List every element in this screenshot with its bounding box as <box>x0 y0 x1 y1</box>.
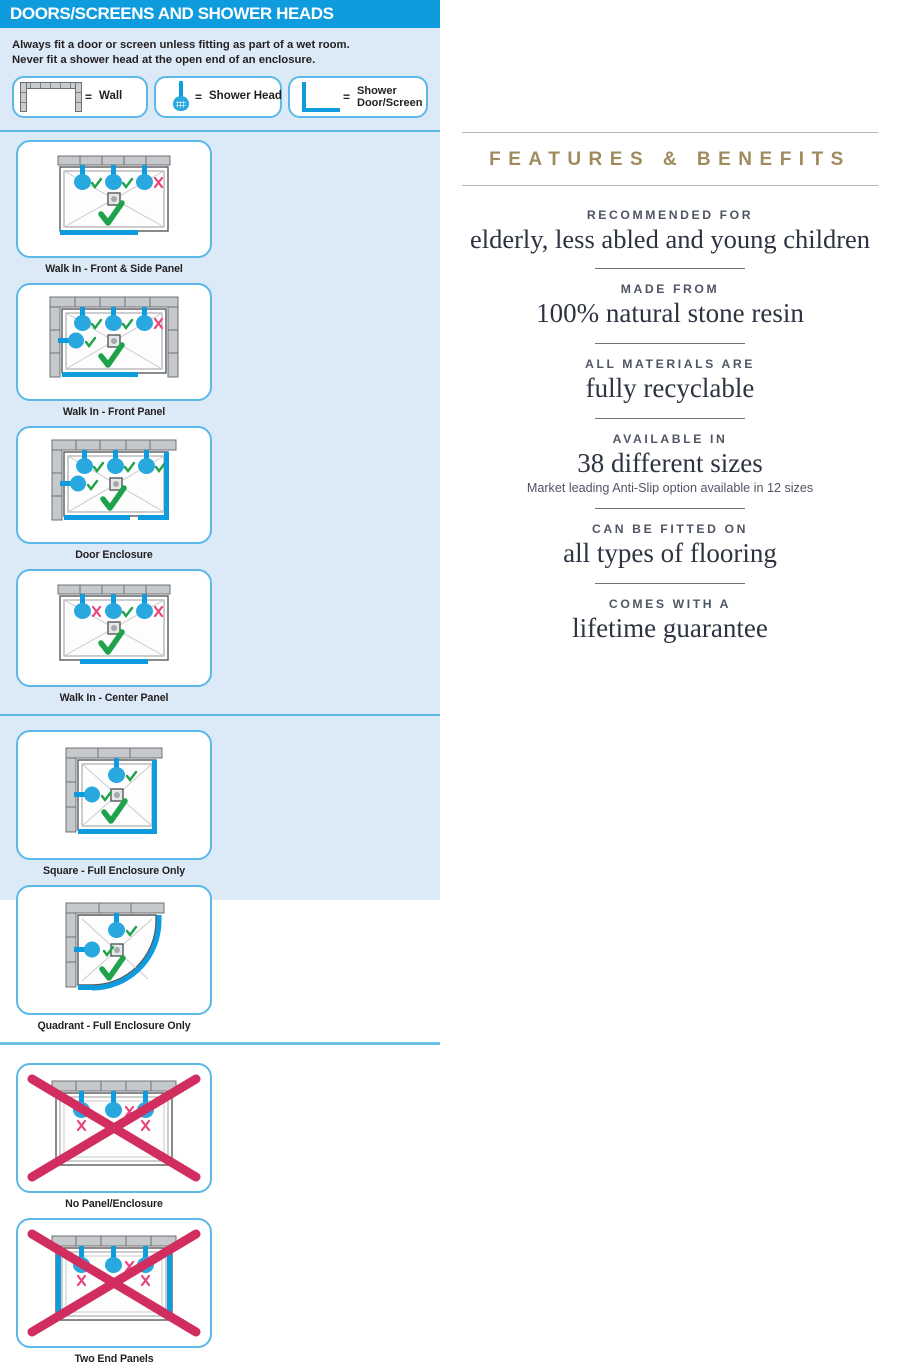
feature-label: RECOMMENDED FOR <box>462 208 878 222</box>
diagram-grid-top: Walk In - Front & Side Panel <box>0 132 440 704</box>
wall-top <box>52 440 176 450</box>
wall-top <box>66 748 162 758</box>
legend-equals-wall: = <box>85 90 92 104</box>
diagram-no-panel-enclosure <box>16 1063 212 1193</box>
feature-item-recommended-for: RECOMMENDED FOR elderly, less abled and … <box>462 208 878 255</box>
diagram-square-full-enclosure-only <box>16 730 212 860</box>
shower-door-bar-bottom <box>78 829 157 834</box>
diagram-walk-in-center-panel <box>16 569 212 687</box>
intro-line-2: Never fit a shower head at the open end … <box>12 53 428 68</box>
legend: = Wall = Shower Head = Shower Door/Scree… <box>0 72 440 118</box>
feature-value: lifetime guarantee <box>462 613 878 645</box>
shower-door-bar <box>62 372 138 377</box>
wall-top <box>58 585 170 594</box>
shower-door-bar <box>80 659 148 664</box>
feature-label: COMES WITH A <box>462 597 878 611</box>
doors-screens-panel: DOORS/SCREENS AND SHOWER HEADS Always fi… <box>0 0 440 900</box>
feature-separator <box>595 343 745 344</box>
panel-header: DOORS/SCREENS AND SHOWER HEADS <box>0 0 440 28</box>
feature-label: ALL MATERIALS ARE <box>462 357 878 371</box>
diagram-cell: Square - Full Enclosure Only <box>8 730 220 877</box>
diagram-caption: Walk In - Front & Side Panel <box>45 263 183 275</box>
diagram-caption: Door Enclosure <box>75 549 152 561</box>
legend-label-shower-door: Shower Door/Screen <box>357 85 422 109</box>
feature-item-comes-with-a: COMES WITH A lifetime guarantee <box>462 597 878 645</box>
shower-head-group <box>74 594 153 619</box>
shower-door-bar-right <box>164 452 169 516</box>
diagram-caption: Walk In - Center Panel <box>60 692 169 704</box>
feature-value: 100% natural stone resin <box>462 298 878 330</box>
diagram-caption: Two End Panels <box>74 1353 153 1365</box>
diagram-cell: Quadrant - Full Enclosure Only <box>8 885 220 1032</box>
diagram-door-enclosure <box>16 426 212 544</box>
diagram-caption: No Panel/Enclosure <box>65 1198 163 1210</box>
diagram-cell: Walk In - Front & Side Panel <box>8 140 220 275</box>
legend-label-wall: Wall <box>99 90 122 103</box>
shower-door-bar <box>60 230 138 235</box>
features-rule-bottom <box>462 185 878 186</box>
legend-item-shower-door: = Shower Door/Screen <box>288 76 428 118</box>
panel-title: DOORS/SCREENS AND SHOWER HEADS <box>10 4 334 24</box>
diagram-grid-mid: Square - Full Enclosure Only <box>0 716 440 1032</box>
feature-label: MADE FROM <box>462 282 878 296</box>
shower-head-group <box>74 165 153 190</box>
features-benefits-panel: FEATURES & BENEFITS RECOMMENDED FOR elde… <box>440 0 900 900</box>
feature-value: elderly, less abled and young children <box>462 224 878 255</box>
feature-separator <box>595 508 745 509</box>
intro-text: Always fit a door or screen unless fitti… <box>0 28 440 72</box>
feature-item-available-in: AVAILABLE IN 38 different sizes Market l… <box>462 432 878 495</box>
legend-label-shower-head: Shower Head <box>209 90 282 103</box>
features-title: FEATURES & BENEFITS <box>462 133 878 185</box>
feature-subtext: Market leading Anti-Slip option availabl… <box>462 481 878 495</box>
diagram-two-end-panels <box>16 1218 212 1348</box>
shower-head-icon <box>170 81 192 113</box>
end-panel-right <box>167 1248 172 1320</box>
diagram-cell: Door Enclosure <box>8 426 220 561</box>
diagram-cell: Walk In - Front Panel <box>8 283 220 418</box>
end-panel-left <box>56 1248 61 1320</box>
diagram-cell: Walk In - Center Panel <box>8 569 220 704</box>
features-list: RECOMMENDED FOR elderly, less abled and … <box>462 208 878 645</box>
diagram-caption: Square - Full Enclosure Only <box>43 865 185 877</box>
feature-separator <box>595 268 745 269</box>
shower-door-bar-bottom <box>64 515 130 520</box>
legend-equals-door: = <box>343 90 350 104</box>
feature-separator <box>595 583 745 584</box>
wall-top <box>50 297 178 307</box>
feature-value: 38 different sizes <box>462 448 878 480</box>
wall-right <box>168 307 178 377</box>
feature-item-made-from: MADE FROM 100% natural stone resin <box>462 282 878 330</box>
feature-separator <box>595 418 745 419</box>
wall-top <box>52 1236 176 1246</box>
page-root: DOORS/SCREENS AND SHOWER HEADS Always fi… <box>0 0 900 900</box>
intro-line-1: Always fit a door or screen unless fitti… <box>12 38 428 53</box>
feature-label: CAN BE FITTED ON <box>462 522 878 536</box>
feature-item-all-materials-are: ALL MATERIALS ARE fully recyclable <box>462 357 878 405</box>
legend-equals-head: = <box>195 90 202 104</box>
wall-top <box>58 156 170 165</box>
shower-door-bar-right <box>152 760 157 830</box>
wall-icon <box>20 82 82 112</box>
wall-top <box>66 903 164 913</box>
wall-top <box>52 1081 176 1091</box>
shower-door-icon <box>300 82 340 112</box>
feature-value: all types of flooring <box>462 538 878 570</box>
legend-item-wall: = Wall <box>12 76 148 118</box>
diagram-cell: No Panel/Enclosure <box>8 1063 220 1210</box>
diagram-caption: Walk In - Front Panel <box>63 406 165 418</box>
feature-value: fully recyclable <box>462 373 878 405</box>
diagram-walk-in-front-and-side-panel <box>16 140 212 258</box>
feature-item-can-be-fitted-on: CAN BE FITTED ON all types of flooring <box>462 522 878 570</box>
diagram-walk-in-front-panel <box>16 283 212 401</box>
diagram-cell: Two End Panels <box>8 1218 220 1365</box>
feature-label: AVAILABLE IN <box>462 432 878 446</box>
legend-item-shower-head: = Shower Head <box>154 76 282 118</box>
diagram-caption: Quadrant - Full Enclosure Only <box>38 1020 191 1032</box>
diagram-quadrant-full-enclosure-only <box>16 885 212 1015</box>
diagram-grid-bottom: No Panel/Enclosure <box>0 1045 440 1365</box>
